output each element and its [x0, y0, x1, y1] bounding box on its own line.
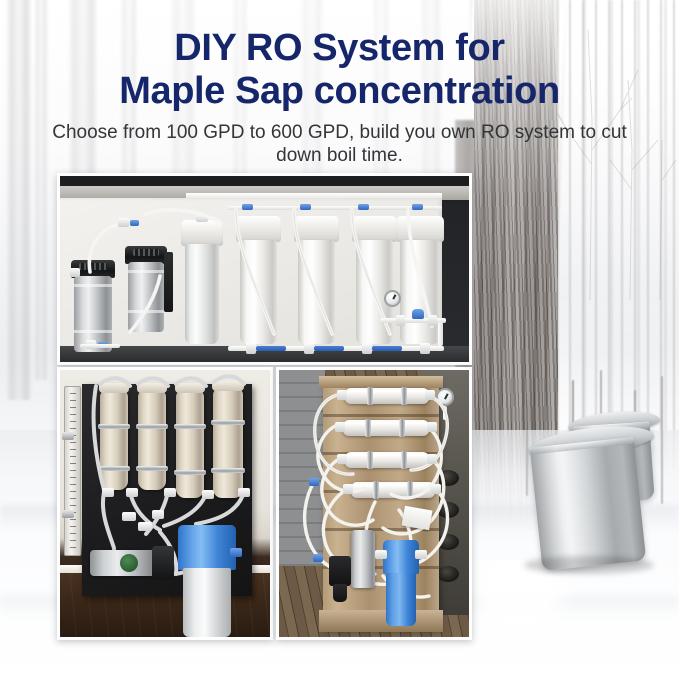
title-line-1: DIY RO System for — [174, 27, 504, 69]
tubing-network — [279, 370, 469, 637]
outlet-tube — [80, 344, 120, 348]
tube-tee — [122, 512, 136, 521]
bottom-manifold-blue-segment — [314, 346, 344, 351]
housing-bowl — [183, 568, 232, 637]
tube-fitting — [164, 488, 176, 497]
elbow-fitting — [118, 218, 129, 227]
blue-prefilter-housing — [383, 540, 419, 626]
manifold-tee — [420, 343, 430, 354]
tube-fitting — [335, 422, 345, 432]
bottom-manifold-blue-segment — [372, 346, 402, 351]
sap-bucket-front — [528, 428, 658, 573]
tube-fitting — [102, 488, 114, 497]
page-title: DIY RO System for Maple Sap concentratio… — [0, 0, 679, 113]
tube-fitting — [425, 390, 435, 400]
blue-valve-knob — [412, 309, 424, 319]
photo-ro-system-wooden-pallet — [276, 367, 472, 640]
manifold-tee — [362, 343, 372, 354]
sapling-icon — [661, 376, 663, 504]
tubing-network — [60, 176, 469, 362]
infographic-banner: DIY RO System for Maple Sap concentratio… — [0, 0, 679, 679]
valve-drop-tube — [438, 322, 443, 346]
manifold-tee — [304, 343, 314, 354]
tube-fitting — [202, 490, 214, 499]
black-filter-bowl — [333, 584, 347, 602]
photo-ro-system-white-panel — [57, 173, 472, 365]
elbow-fitting-blue — [130, 220, 139, 226]
tube-fitting — [238, 488, 250, 497]
housing-cap-blue — [178, 525, 236, 570]
tube-fitting — [343, 484, 353, 494]
bucket-shading — [530, 437, 646, 571]
photo-ro-system-black-board — [57, 367, 273, 640]
pump-indicator — [120, 554, 138, 572]
black-filter-housing — [329, 556, 351, 586]
bucket-body — [530, 437, 646, 571]
header: DIY RO System for Maple Sap concentratio… — [0, 0, 679, 170]
blue-valve — [309, 478, 319, 486]
tubing-network — [60, 370, 270, 637]
tube-fitting — [337, 454, 347, 464]
housing-port-blue — [230, 548, 242, 557]
pressure-gauge — [384, 290, 401, 307]
tube-fitting — [427, 454, 437, 464]
page-subtitle: Choose from 100 GPD to 600 GPD, build yo… — [0, 113, 679, 167]
pump-motor-head — [152, 546, 174, 580]
housing-port — [415, 550, 427, 559]
valve-fitting — [396, 315, 405, 326]
tube-fitting — [126, 488, 138, 497]
valve-fitting — [428, 315, 437, 326]
tube-fitting — [431, 484, 441, 494]
tube-tee — [138, 522, 152, 531]
inlet-elbow — [70, 268, 80, 277]
housing-bowl-blue — [386, 573, 416, 626]
tube-fitting — [337, 390, 347, 400]
housing-cap-blue — [383, 540, 419, 574]
manifold-tee — [246, 343, 256, 354]
title-line-2: Maple Sap concentration — [0, 70, 679, 113]
bucket-shadow — [524, 556, 654, 574]
tube-fitting — [427, 422, 437, 432]
blue-valve — [313, 554, 323, 562]
housing-port — [375, 550, 387, 559]
bottom-manifold-blue-segment — [256, 346, 286, 351]
blue-prefilter-housing — [178, 525, 236, 637]
tube-tee — [152, 510, 164, 519]
booster-pump — [351, 530, 375, 588]
